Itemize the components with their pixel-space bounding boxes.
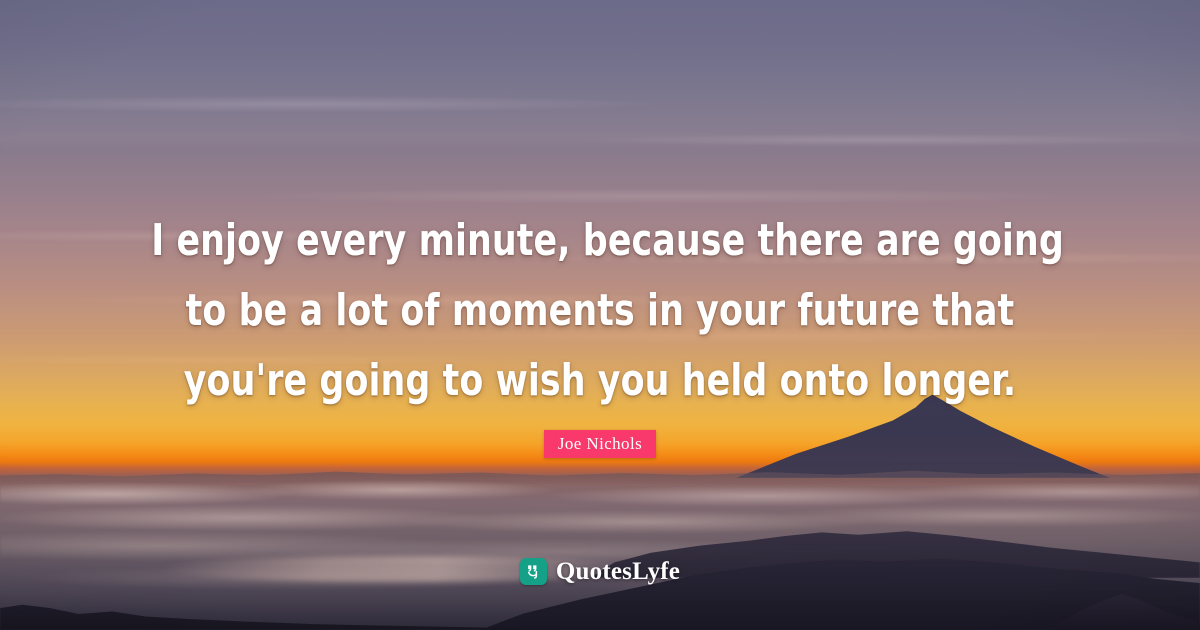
author-attribution: Joe Nichols [0, 430, 1200, 458]
brand-logo[interactable]: QuotesLyfe [0, 558, 1200, 585]
quote-card: I enjoy every minute, because there are … [0, 0, 1200, 630]
quote-text: I enjoy every minute, because there are … [0, 206, 1200, 416]
quote-line-1: I enjoy every minute, because there are … [151, 206, 1049, 276]
quote-line-2: to be a lot of moments in your future th… [151, 276, 1049, 346]
quote-line-3: you're going to wish you held onto longe… [151, 346, 1049, 416]
author-name-badge[interactable]: Joe Nichols [544, 430, 656, 458]
card-content: I enjoy every minute, because there are … [0, 0, 1200, 630]
quote-marks-icon [520, 558, 547, 585]
brand-name-label: QuotesLyfe [556, 559, 680, 584]
